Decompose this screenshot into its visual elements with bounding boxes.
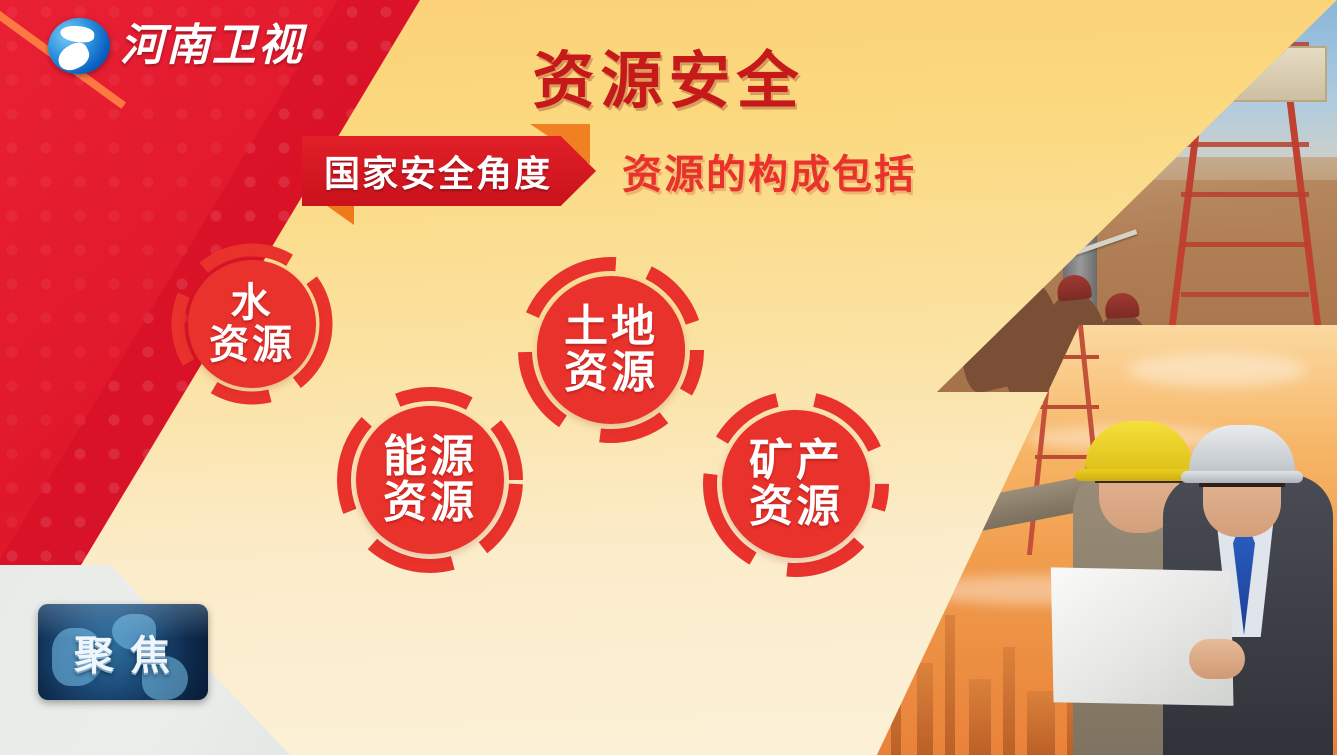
broadcaster-name: 河南卫视: [120, 24, 304, 68]
resource-label-line2: 资源: [383, 480, 477, 526]
resource-label-line2: 资源: [749, 484, 843, 530]
resource-node-core: 水 资源: [188, 260, 316, 388]
program-bug-title: 聚 焦: [38, 604, 208, 700]
program-bug-char-2: 焦: [130, 623, 172, 681]
category-tag: 国家安全角度: [302, 136, 596, 206]
broadcast-graphic-slide: 河南卫视 资源安全 国家安全角度 资源的构成包括 水 资源: [0, 0, 1337, 755]
program-bug-char-1: 聚: [74, 623, 116, 681]
resource-label-line2: 资源: [209, 324, 295, 366]
resource-label-line2: 资源: [564, 350, 658, 396]
subtitle-text: 资源的构成包括: [622, 142, 916, 200]
rig-signboard: [1203, 46, 1327, 102]
resource-node-mineral: 矿产 资源: [698, 386, 894, 582]
page-title-text: 资源安全: [532, 44, 804, 117]
red-hardhat-icon: [1007, 258, 1044, 288]
resource-node-energy: 能源 资源: [332, 382, 528, 578]
resource-label-line1: 土地: [564, 304, 658, 350]
subtitle-row: 国家安全角度 资源的构成包括: [302, 136, 916, 206]
blueprint-sheet: [1039, 546, 1245, 725]
category-tag-label: 国家安全角度: [324, 154, 552, 195]
resource-label-line1: 能源: [383, 434, 477, 480]
red-hardhat-icon: [961, 247, 1000, 279]
resource-label-line1: 水: [231, 282, 274, 324]
resource-node-core: 能源 资源: [356, 406, 504, 554]
resource-node-core: 矿产 资源: [722, 410, 870, 558]
category-tag-wrapper: 国家安全角度: [302, 136, 596, 206]
resource-node-land: 土地 资源: [513, 252, 709, 448]
program-bug: 聚 焦: [38, 604, 208, 700]
executive-hand: [1189, 639, 1245, 679]
rig-platform: [955, 170, 1075, 179]
pointing-hand-icon: [890, 444, 959, 494]
globe-icon: [44, 14, 113, 78]
resource-node-water: 水 资源: [168, 240, 336, 408]
resource-node-core: 土地 资源: [537, 276, 685, 424]
broadcaster-logo: 河南卫视: [48, 18, 304, 74]
resource-label-line1: 矿产: [749, 438, 843, 484]
rig-panel: [999, 128, 1049, 164]
